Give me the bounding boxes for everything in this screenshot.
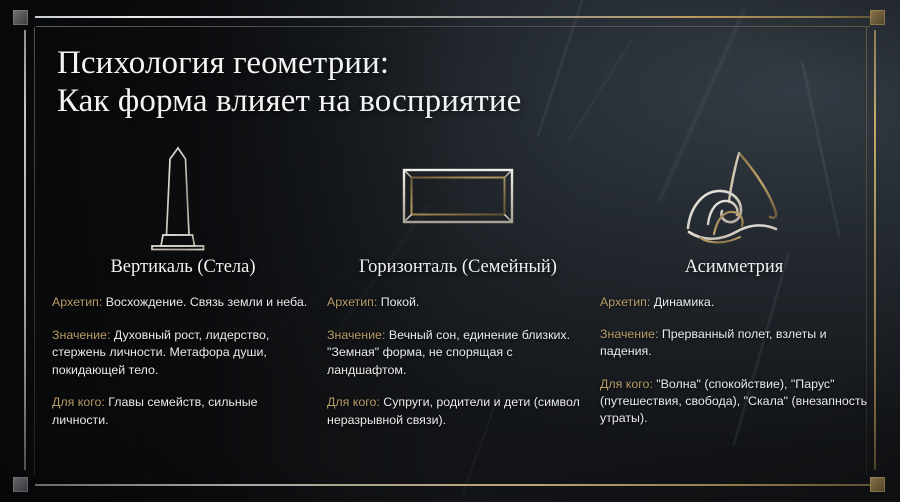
entry-arhetip: Архетип: Покой. [327, 294, 589, 312]
wave-sail-icon [684, 150, 784, 242]
entry-dlya-kogo: Для кого: "Волна" (спокойствие), "Парус"… [600, 376, 868, 428]
entry-label: Архетип: [327, 295, 377, 309]
entry-znachenie: Значение: Духовный рост, лидерство, стер… [52, 327, 314, 380]
column-horizontal: Горизонталь (Семейный) Архетип: Покой. З… [327, 135, 589, 429]
wave-sail-icon-wrap [600, 135, 868, 257]
frame-corner-square-top-right [870, 10, 885, 25]
frame-corner-square-top-left [13, 10, 28, 25]
entry-text: Динамика. [650, 295, 714, 309]
entry-dlya-kogo: Для кого: Супруги, родители и дети (симв… [327, 394, 589, 429]
presentation-slide: Психология геометрии: Как форма влияет н… [0, 0, 900, 502]
entry-label: Для кого: [327, 395, 380, 409]
rectangle-frame-icon [402, 168, 514, 224]
entry-label: Значение: [600, 327, 658, 341]
entry-label: Для кого: [52, 395, 105, 409]
entry-label: Значение: [52, 328, 110, 342]
entry-text: Восхождение. Связь земли и неба. [102, 295, 307, 309]
column-vertical: Вертикаль (Стела) Архетип: Восхождение. … [52, 135, 314, 429]
obelisk-icon [146, 140, 220, 252]
rectangle-frame-icon-wrap [327, 135, 589, 257]
frame-inner-top-line [36, 26, 870, 27]
entry-znachenie: Значение: Прерванный полет, взлеты и пад… [600, 326, 868, 360]
entry-label: Архетип: [52, 295, 102, 309]
entry-label: Значение: [327, 328, 385, 342]
obelisk-icon-wrap [52, 135, 314, 257]
slide-title-line-1: Психология геометрии: [57, 45, 389, 81]
column-title-vertical: Вертикаль (Стела) [52, 257, 314, 278]
entry-arhetip: Архетип: Динамика. [600, 294, 868, 311]
column-title-asymmetry: Асимметрия [600, 257, 868, 278]
entry-label: Для кого: [600, 377, 653, 391]
slide-title-line-2: Как форма влияет на восприятие [57, 82, 757, 120]
column-title-horizontal: Горизонталь (Семейный) [327, 257, 589, 278]
entry-znachenie: Значение: Вечный сон, единение близких. … [327, 327, 589, 380]
column-asymmetry: Асимметрия Архетип: Динамика. Значение: … [600, 135, 868, 427]
entry-text: Покой. [377, 295, 419, 309]
columns-container: Вертикаль (Стела) Архетип: Восхождение. … [0, 135, 900, 485]
slide-title: Психология геометрии: Как форма влияет н… [57, 44, 757, 120]
entry-dlya-kogo: Для кого: Главы семейств, сильные личнос… [52, 394, 314, 429]
entry-label: Архетип: [600, 295, 650, 309]
frame-top-line [35, 16, 875, 18]
entry-arhetip: Архетип: Восхождение. Связь земли и неба… [52, 294, 314, 312]
